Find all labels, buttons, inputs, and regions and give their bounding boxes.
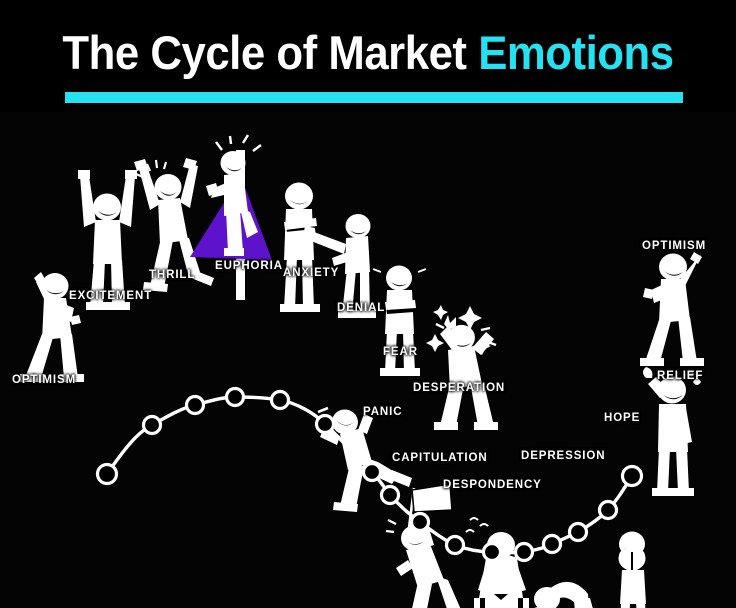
title-text-accent: Emotions <box>478 26 673 79</box>
node-hope <box>544 536 561 553</box>
emotion-label-despondency: DESPONDENCY <box>443 479 542 491</box>
title-underline-bar <box>65 92 683 103</box>
node-anxiety <box>272 392 289 409</box>
emotion-label-optimism-right: OPTIMISM <box>642 240 706 252</box>
node-fear <box>364 464 381 481</box>
emotion-label-thrill: THRILL <box>149 269 195 281</box>
emotion-label-capitulation: CAPITULATION <box>392 452 488 464</box>
node-relief <box>570 524 587 541</box>
emotion-label-optimism-left: OPTIMISM <box>12 374 76 386</box>
node-capitulation <box>447 537 464 554</box>
emotion-label-hope: HOPE <box>604 412 640 424</box>
emotion-label-anxiety: ANXIETY <box>283 267 339 279</box>
emotion-label-euphoria: EUPHORIA <box>215 260 283 272</box>
node-recovery <box>600 502 617 519</box>
node-despondency <box>484 544 501 561</box>
node-excitement <box>144 417 161 434</box>
poster-stage: OPTIMISMEXCITEMENTTHRILLEUPHORIAANXIETYD… <box>0 112 736 608</box>
node-desperation <box>382 487 399 504</box>
emotion-label-desperation: DESPERATION <box>413 382 505 394</box>
node-denial <box>317 416 334 433</box>
market-emotion-cycle-poster: The Cycle of Market Emotions <box>0 0 736 608</box>
node-panic <box>412 514 429 531</box>
emotion-label-fear: FEAR <box>383 346 418 358</box>
market-emotion-curve-layer <box>0 112 736 608</box>
title-text-white: The Cycle of Market <box>62 26 478 79</box>
emotion-label-excitement: EXCITEMENT <box>69 290 152 302</box>
page-title: The Cycle of Market Emotions <box>26 27 710 79</box>
poster-header: The Cycle of Market Emotions <box>0 0 736 112</box>
emotion-label-relief: RELIEF <box>657 370 703 382</box>
emotion-label-denial: DENIAL <box>337 302 385 314</box>
node-euphoria <box>227 389 244 406</box>
node-optimism-end <box>623 467 642 486</box>
emotion-label-panic: PANIC <box>363 406 402 418</box>
emotion-label-depression: DEPRESSION <box>521 450 605 462</box>
node-depression <box>516 544 533 561</box>
node-optimism <box>98 465 117 484</box>
node-thrill <box>187 397 204 414</box>
